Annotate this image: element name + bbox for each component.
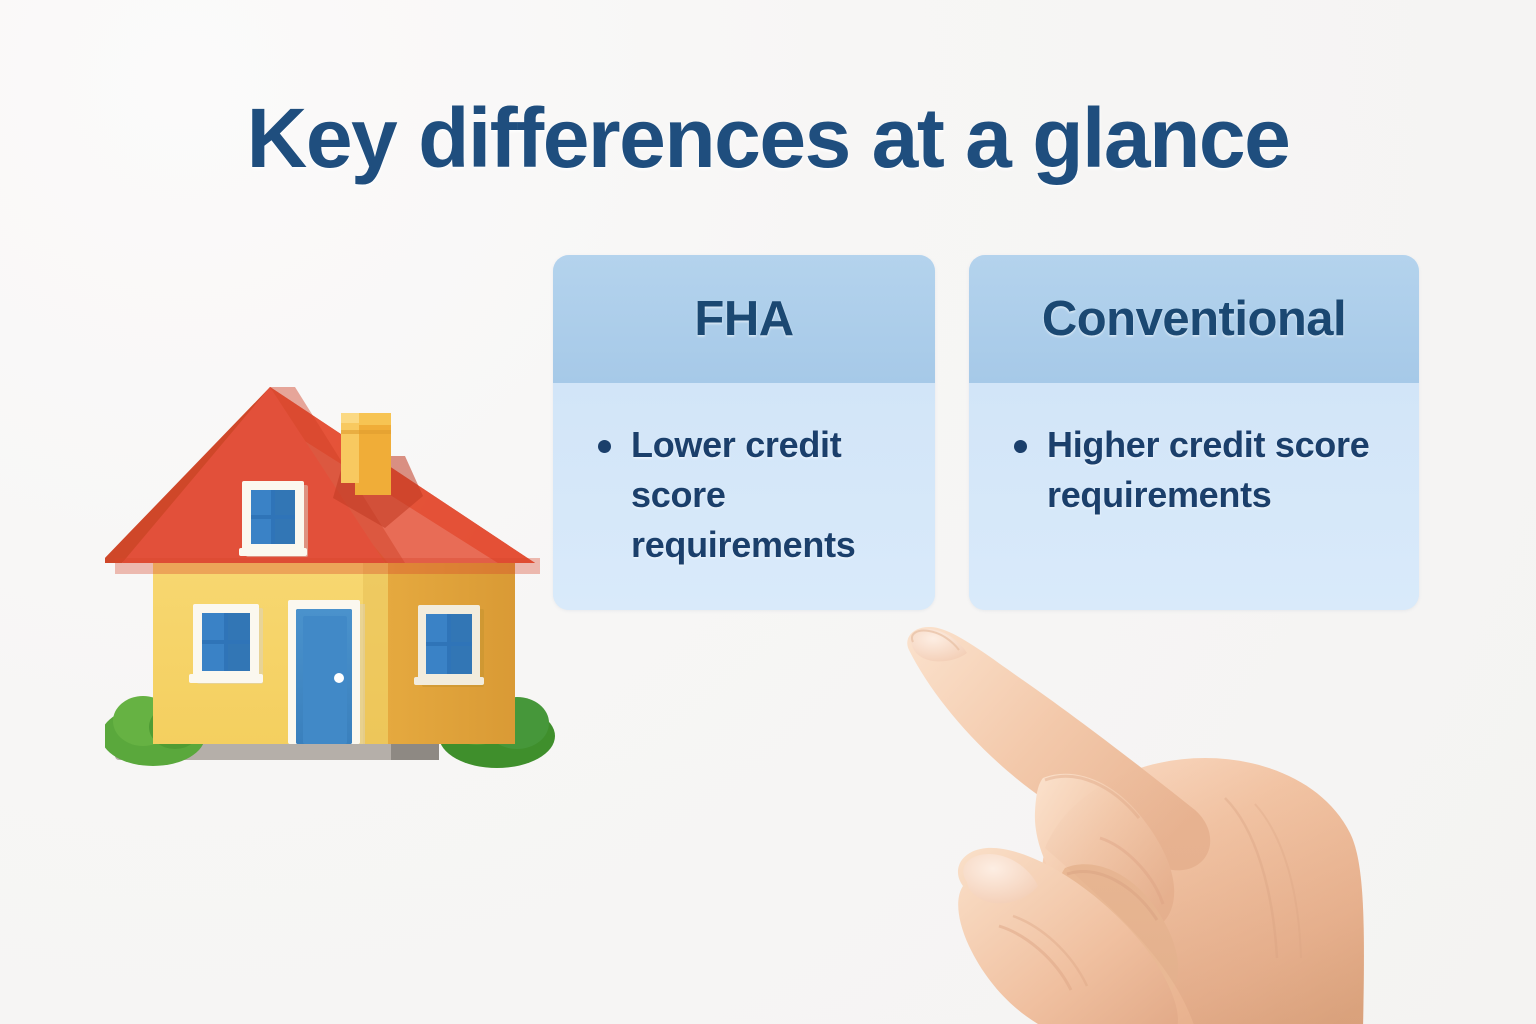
slide-canvas: Key differences at a glance bbox=[0, 0, 1536, 1024]
page-title: Key differences at a glance bbox=[0, 96, 1536, 180]
front-door bbox=[288, 600, 365, 744]
window-side bbox=[414, 605, 484, 687]
bullet-text: Lower credit score requirements bbox=[631, 424, 855, 565]
card-header-conventional: Conventional bbox=[969, 255, 1419, 383]
house-roof bbox=[105, 387, 540, 574]
window-attic bbox=[239, 481, 308, 557]
card-body-fha: Lower credit score requirements bbox=[553, 383, 935, 610]
window-front-left bbox=[189, 604, 263, 684]
card-title-fha: FHA bbox=[694, 291, 793, 347]
chimney bbox=[341, 413, 391, 495]
list-item: Lower credit score requirements bbox=[596, 420, 915, 570]
card-header-fha: FHA bbox=[553, 255, 935, 383]
pointing-hand-image bbox=[895, 598, 1365, 1024]
list-item: Higher credit score requirements bbox=[1012, 420, 1399, 520]
card-body-conventional: Higher credit score requirements bbox=[969, 383, 1419, 610]
bullet-list-fha: Lower credit score requirements bbox=[596, 420, 915, 570]
comparison-card-conventional[interactable]: Conventional Higher credit score require… bbox=[969, 255, 1419, 610]
bullet-text: Higher credit score requirements bbox=[1047, 424, 1369, 515]
comparison-card-fha[interactable]: FHA Lower credit score requirements bbox=[553, 255, 935, 610]
card-title-conventional: Conventional bbox=[1042, 291, 1346, 347]
bullet-list-conventional: Higher credit score requirements bbox=[1012, 420, 1399, 520]
house-illustration bbox=[105, 378, 565, 778]
bullet-dot-icon bbox=[598, 440, 611, 453]
bullet-dot-icon bbox=[1014, 440, 1027, 453]
